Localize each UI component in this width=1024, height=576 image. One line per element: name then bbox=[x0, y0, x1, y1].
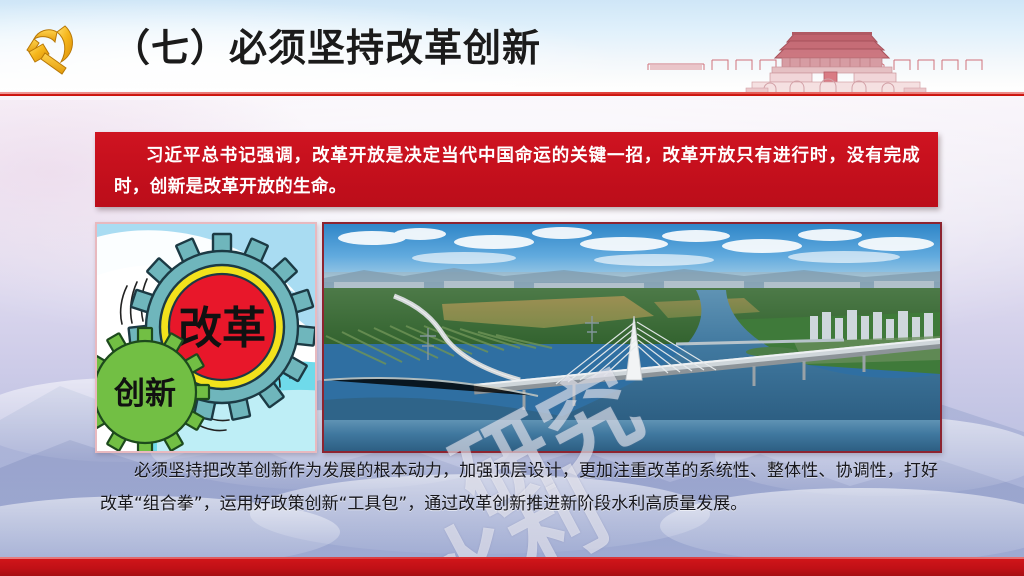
slide-root: （七）必须坚持改革创新 bbox=[0, 0, 1024, 576]
big-gear-label: 改革 bbox=[178, 303, 266, 354]
tiananmen-gate-icon bbox=[642, 18, 1012, 96]
aerial-river-bridge-photo bbox=[322, 222, 942, 453]
quote-box: 习近平总书记强调，改革开放是决定当代中国命运的关键一招，改革开放只有进行时，没有… bbox=[95, 132, 938, 207]
party-emblem-hammer-sickle-icon bbox=[18, 20, 86, 78]
quote-text: 习近平总书记强调，改革开放是决定当代中国命运的关键一招，改革开放只有进行时，没有… bbox=[114, 141, 920, 203]
header-divider-highlight bbox=[0, 92, 1024, 94]
gear-illustration: 改革 bbox=[95, 222, 317, 453]
slide-header: （七）必须坚持改革创新 bbox=[0, 0, 1024, 96]
small-gear-label: 创新 bbox=[113, 376, 176, 412]
aerial-photo-svg bbox=[324, 224, 940, 451]
footer-bar-highlight bbox=[0, 557, 1024, 559]
footer-bar bbox=[0, 557, 1024, 576]
gear-illustration-svg: 改革 bbox=[97, 224, 315, 451]
page-title: （七）必须坚持改革创新 bbox=[112, 26, 541, 70]
body-text: 必须坚持把改革创新作为发展的根本动力，加强顶层设计，更加注重改革的系统性、整体性… bbox=[100, 455, 938, 521]
